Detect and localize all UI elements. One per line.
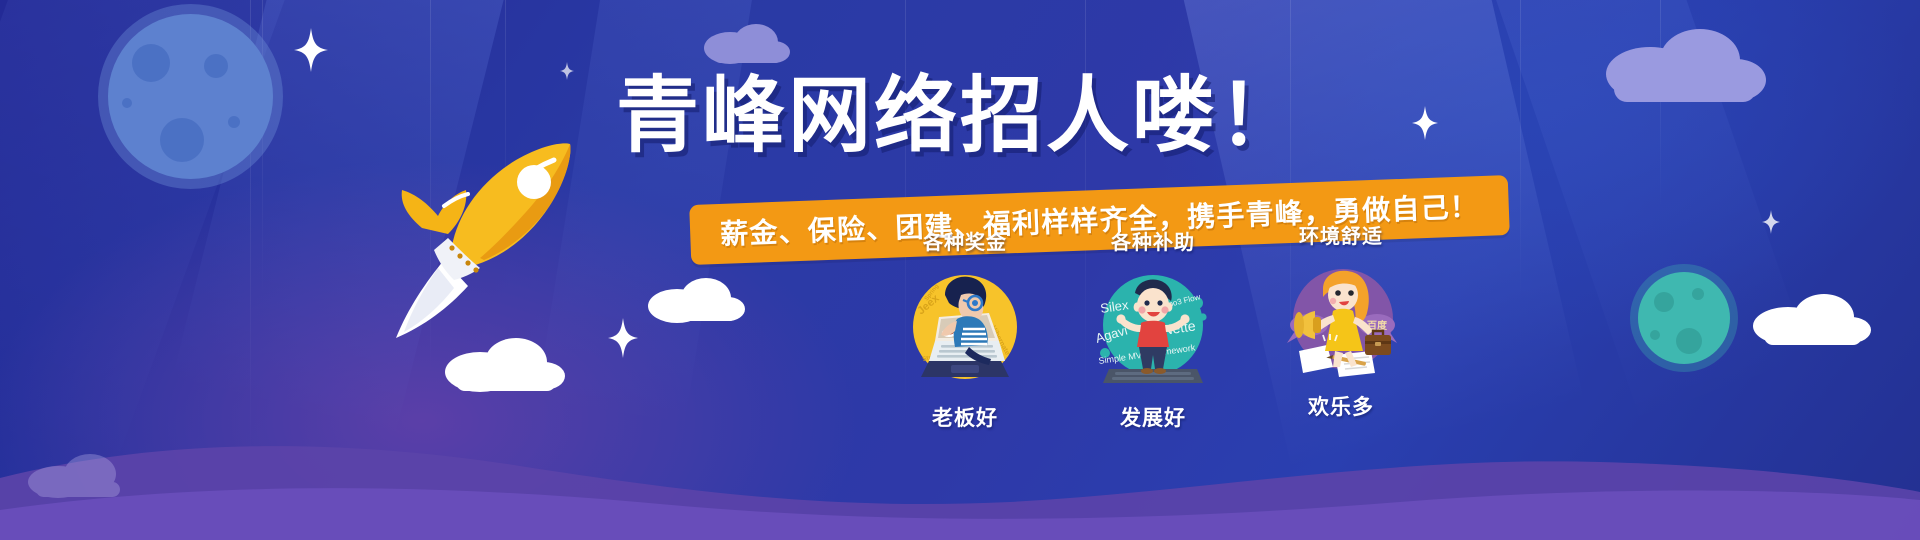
feature-bottom-label: 欢乐多 [1246,391,1436,421]
feature-item: 环境舒适 网站 百度 [1246,220,1436,421]
developer-with-frameworks-icon: Silex Typo3 Flow Agavi Nette Simple MVC … [1093,269,1213,389]
cloud-icon [644,276,748,324]
recruitment-banner: 青峰网络招人喽！ 薪金、保险、团建、福利样样齐全，携手青峰，勇做自己！ 各种奖金… [0,0,1920,540]
feature-top-label: 各种补助 [1058,226,1248,255]
page-title: 青峰网络招人喽！ [0,74,1920,157]
sparkle-star-icon [1762,210,1780,234]
developer-at-laptop-icon: Jeex Final Spring Hibernate Struts · Spr… [905,269,1025,389]
feature-top-label: 各种奖金 [870,226,1060,255]
feature-illustration: 网站 百度 [1281,263,1401,383]
marketer-with-megaphone-icon: 网站 百度 [1281,263,1401,383]
sparkle-star-icon [294,28,328,72]
feature-bottom-label: 发展好 [1058,402,1248,432]
feature-illustration: Jeex Final Spring Hibernate Struts · Spr… [905,269,1025,389]
cloud-icon [440,336,568,394]
planet-icon [1638,272,1730,364]
feature-list: 各种奖金 Jeex Final Spring Hibernate Struts … [880,226,1440,526]
feature-item: 各种补助 Silex Typo3 Flow Agavi Nette Simple… [1058,226,1248,432]
cloud-icon [24,452,134,500]
feature-item: 各种奖金 Jeex Final Spring Hibernate Struts … [870,226,1060,432]
feature-top-label: 环境舒适 [1246,220,1436,249]
feature-illustration: Silex Typo3 Flow Agavi Nette Simple MVC … [1093,269,1213,389]
cloud-icon [1748,292,1876,348]
sparkle-star-icon [608,318,638,358]
cloud-icon [700,22,792,64]
feature-bottom-label: 老板好 [870,402,1060,432]
rocket-icon [392,142,572,342]
